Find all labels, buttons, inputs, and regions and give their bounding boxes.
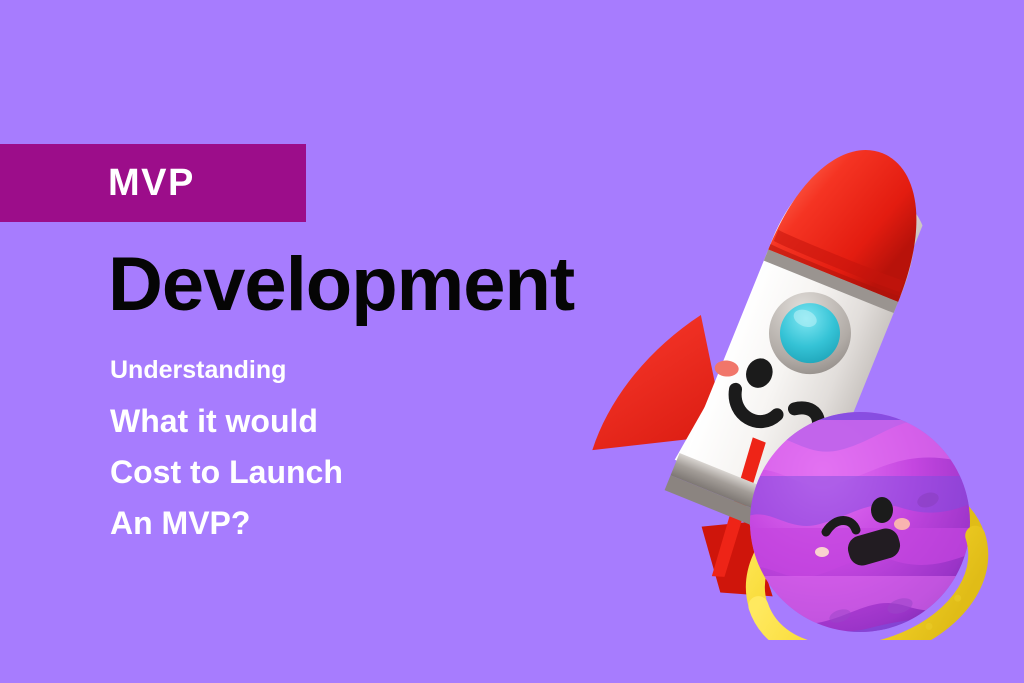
mvp-badge-label: MVP <box>108 164 195 202</box>
page-title: Development <box>108 247 574 323</box>
planet-blush-right <box>894 518 910 530</box>
subhead-block: Understanding What it would Cost to Laun… <box>110 358 530 539</box>
subhead-line-1: What it would <box>110 405 530 437</box>
subhead-line-2: Cost to Launch <box>110 456 530 488</box>
rocket-and-planet-illustration <box>540 120 1024 640</box>
mvp-badge: MVP <box>0 144 306 222</box>
subhead-eyebrow: Understanding <box>110 358 530 383</box>
subhead-line-3: An MVP? <box>110 507 530 539</box>
mvp-development-banner: MVP Development Understanding What it wo… <box>0 0 1024 683</box>
planet-blush-left <box>815 547 829 557</box>
planet-eye-right <box>871 497 893 523</box>
